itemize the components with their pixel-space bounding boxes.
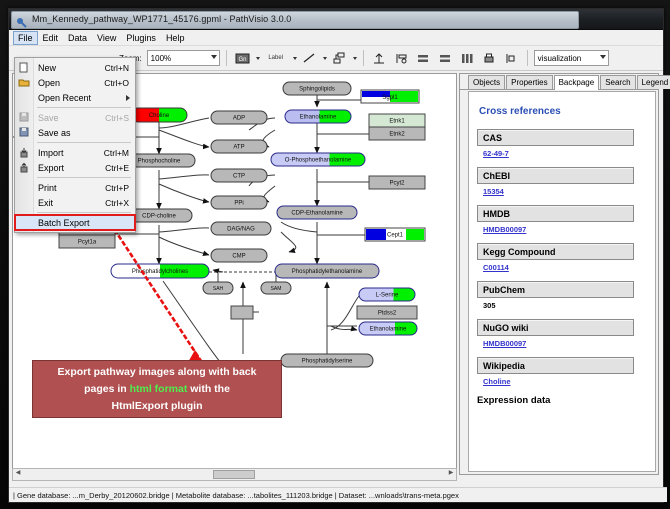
xref-label-kegg-compound: Kegg Compound (477, 243, 634, 260)
menu-item-save-label: Save (38, 113, 59, 123)
datanode-dropdown-icon[interactable] (256, 57, 260, 60)
chevron-right-icon (126, 95, 130, 101)
menu-item-open-recent[interactable]: Open Recent (15, 90, 135, 105)
callout-line-2-after: with the (187, 383, 230, 395)
chevron-down-icon (600, 55, 606, 59)
xref-label-nugo-wiki: NuGO wiki (477, 319, 634, 336)
menu-item-exit[interactable]: Exit Ctrl+X (15, 195, 135, 210)
callout-line-2-before: pages in (84, 383, 130, 395)
menu-item-open[interactable]: Open Ctrl+O (15, 75, 135, 90)
stack-columns-icon[interactable] (458, 49, 477, 68)
desktop-background: Mm_Kennedy_pathway_WP1771_45176.gpml - P… (0, 0, 670, 509)
menu-item-import-label: Import (38, 148, 64, 158)
tab-properties[interactable]: Properties (506, 75, 552, 89)
menu-separator (37, 177, 131, 178)
menu-item-open-label: Open (38, 78, 60, 88)
xref-value-cas[interactable]: 62-49-7 (483, 149, 647, 158)
callout-line-2: pages in html format with the (33, 381, 281, 398)
menu-item-print[interactable]: Print Ctrl+P (15, 180, 135, 195)
xref-value-kegg-compound[interactable]: C00114 (483, 263, 647, 272)
menu-view[interactable]: View (92, 31, 121, 45)
xref-value-wikipedia[interactable]: Choline (483, 377, 647, 386)
print-icon[interactable] (480, 49, 499, 68)
align-left-icon[interactable] (392, 49, 411, 68)
menu-item-export-label: Export (38, 163, 64, 173)
size-icon[interactable] (502, 49, 521, 68)
menu-item-print-accel: Ctrl+P (105, 183, 129, 193)
tab-objects[interactable]: Objects (468, 75, 505, 89)
callout-line-3: HtmlExport plugin (33, 398, 281, 415)
titlebar-inner: Mm_Kennedy_pathway_WP1771_45176.gpml - P… (11, 11, 579, 29)
statusbar: | Gene database: ...m_Derby_20120602.bri… (9, 487, 667, 502)
menu-item-import-accel: Ctrl+M (104, 148, 129, 158)
menu-help[interactable]: Help (161, 31, 190, 45)
import-icon (18, 147, 30, 158)
file-menu-dropdown: New Ctrl+N Open Ctrl+O Open Recent Save (14, 57, 136, 233)
menu-item-save-as-label: Save as (38, 128, 71, 138)
xref-label-cas: CAS (477, 129, 634, 146)
menu-item-new[interactable]: New Ctrl+N (15, 60, 135, 75)
new-file-icon (18, 62, 30, 73)
menu-file[interactable]: File (13, 31, 38, 45)
xref-label-pubchem: PubChem (477, 281, 634, 298)
menu-item-save: Save Ctrl+S (15, 110, 135, 125)
cross-references-heading: Cross references (479, 106, 647, 117)
callout-highlight: html format (130, 383, 188, 395)
save-disk-icon (18, 112, 30, 123)
menubar: File Edit Data View Plugins Help (9, 30, 663, 46)
open-folder-icon (18, 77, 30, 88)
menu-item-import[interactable]: Import Ctrl+M (15, 145, 135, 160)
tab-legend[interactable]: Legend (637, 75, 670, 89)
menu-plugins[interactable]: Plugins (121, 31, 161, 45)
menu-item-exit-label: Exit (38, 198, 53, 208)
menu-item-save-accel: Ctrl+S (105, 113, 129, 123)
side-panel: Objects Properties Backpage Search Legen… (459, 73, 659, 475)
xref-value-chebi[interactable]: 15354 (483, 187, 647, 196)
xref-value-nugo-wiki[interactable]: HMDB00097 (483, 339, 647, 348)
menu-item-print-label: Print (38, 183, 57, 193)
callout-line-1: Export pathway images along with back (33, 364, 281, 381)
pathvisio-app-icon (16, 15, 27, 26)
toolbar-separator (226, 50, 227, 66)
pathvisio-window: Mm_Kennedy_pathway_WP1771_45176.gpml - P… (8, 8, 664, 503)
xref-label-chebi: ChEBI (477, 167, 634, 184)
label-icon[interactable]: Label (263, 49, 289, 68)
visualization-combobox[interactable]: visualization (534, 50, 609, 66)
visualization-value: visualization (538, 54, 582, 63)
svg-text:Gn: Gn (238, 57, 246, 63)
export-icon (18, 162, 30, 173)
menu-item-batch-export-label: Batch Export (38, 218, 90, 228)
line-icon[interactable] (300, 49, 319, 68)
side-panel-tabs: Objects Properties Backpage Search Legen… (460, 74, 658, 90)
interaction-icon[interactable] (330, 49, 349, 68)
align-rows-icon[interactable] (414, 49, 433, 68)
tab-search[interactable]: Search (600, 75, 635, 89)
menu-separator (37, 107, 131, 108)
menu-separator (37, 212, 131, 213)
backpage-content: Cross references CAS 62-49-7 ChEBI 15354… (468, 91, 656, 472)
toolbar-separator (527, 50, 528, 66)
menu-item-exit-accel: Ctrl+X (105, 198, 129, 208)
chevron-down-icon (211, 55, 217, 59)
statusbar-text: | Gene database: ...m_Derby_20120602.bri… (13, 491, 459, 500)
toolbar-separator (363, 50, 364, 66)
xref-label-wikipedia: Wikipedia (477, 357, 634, 374)
interaction-dropdown-icon[interactable] (353, 57, 357, 60)
xref-value-pubchem: 305 (483, 301, 647, 310)
menu-item-save-as[interactable]: Save as (15, 125, 135, 140)
menu-item-new-accel: Ctrl+N (105, 63, 129, 73)
datanode-icon[interactable]: Gn (233, 49, 252, 68)
annotation-callout: Export pathway images along with back pa… (32, 360, 282, 418)
save-as-icon (18, 127, 30, 138)
line-dropdown-icon[interactable] (323, 57, 327, 60)
menu-item-export-accel: Ctrl+E (105, 163, 129, 173)
window-title: Mm_Kennedy_pathway_WP1771_45176.gpml - P… (32, 13, 291, 26)
menu-edit[interactable]: Edit (38, 31, 64, 45)
zoom-value: 100% (151, 54, 171, 63)
zoom-combobox[interactable]: 100% (147, 50, 220, 66)
xref-label-hmdb: HMDB (477, 205, 634, 222)
align-top-icon[interactable] (370, 49, 389, 68)
label-dropdown-icon[interactable] (293, 57, 297, 60)
menu-separator (37, 142, 131, 143)
expression-data-heading: Expression data (477, 395, 647, 406)
menu-item-open-accel: Ctrl+O (104, 78, 129, 88)
menu-item-export[interactable]: Export Ctrl+E (15, 160, 135, 175)
menu-data[interactable]: Data (63, 31, 92, 45)
menu-item-batch-export[interactable]: Batch Export (15, 215, 135, 230)
menu-item-open-recent-label: Open Recent (38, 93, 91, 103)
window-titlebar: Mm_Kennedy_pathway_WP1771_45176.gpml - P… (9, 9, 663, 30)
tab-backpage[interactable]: Backpage (554, 75, 600, 90)
xref-value-hmdb[interactable]: HMDB00097 (483, 225, 647, 234)
distribute-icon[interactable] (436, 49, 455, 68)
menu-item-new-label: New (38, 63, 56, 73)
